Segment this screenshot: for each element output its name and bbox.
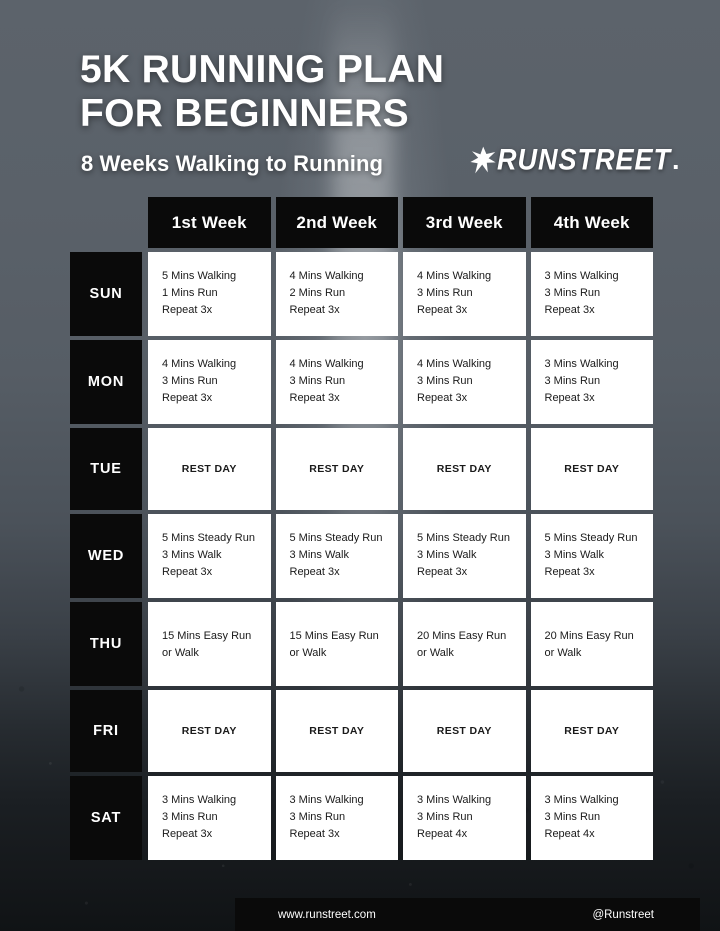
workout-line: 15 Mins Easy Run	[162, 628, 271, 645]
workout-line: Repeat 3x	[162, 826, 271, 843]
workout-cell-mon-week4: 3 Mins Walking 3 Mins Run Repeat 3x	[531, 340, 654, 424]
rest-cell-fri-week1: REST DAY	[148, 690, 271, 772]
table-row: MON 4 Mins Walking 3 Mins Run Repeat 3x …	[70, 340, 653, 424]
workout-line: 1 Mins Run	[162, 285, 271, 302]
workout-line: Repeat 3x	[162, 564, 271, 581]
poster: 5K RUNNING PLAN FOR BEGINNERS 8 Weeks Wa…	[0, 0, 720, 931]
rest-cell-fri-week2: REST DAY	[276, 690, 399, 772]
table-row: THU 15 Mins Easy Run or Walk 15 Mins Eas…	[70, 602, 653, 686]
workout-cell-thu-week3: 20 Mins Easy Run or Walk	[403, 602, 526, 686]
table-corner-cell	[70, 197, 142, 248]
workout-line: Repeat 4x	[417, 826, 526, 843]
workout-cell-mon-week3: 4 Mins Walking 3 Mins Run Repeat 3x	[403, 340, 526, 424]
workout-line: 5 Mins Walking	[162, 268, 271, 285]
workout-line: 5 Mins Steady Run	[417, 530, 526, 547]
workout-line: 3 Mins Walk	[162, 547, 271, 564]
workout-cell-sat-week3: 3 Mins Walking 3 Mins Run Repeat 4x	[403, 776, 526, 860]
workout-line: 3 Mins Run	[162, 809, 271, 826]
workout-line: 5 Mins Steady Run	[162, 530, 271, 547]
day-label-thu: THU	[70, 602, 142, 686]
workout-line: 3 Mins Walking	[545, 268, 654, 285]
logo-trademark: .	[672, 145, 680, 176]
day-label-tue: TUE	[70, 428, 142, 510]
workout-line: 3 Mins Walk	[290, 547, 399, 564]
workout-line: Repeat 3x	[417, 564, 526, 581]
workout-line: 3 Mins Walk	[545, 547, 654, 564]
workout-line: Repeat 3x	[417, 302, 526, 319]
workout-cell-mon-week1: 4 Mins Walking 3 Mins Run Repeat 3x	[148, 340, 271, 424]
day-label-fri: FRI	[70, 690, 142, 772]
rest-cell-fri-week3: REST DAY	[403, 690, 526, 772]
workout-line: 3 Mins Run	[417, 285, 526, 302]
workout-line: or Walk	[290, 645, 399, 662]
workout-line: 3 Mins Run	[290, 809, 399, 826]
page-title: 5K RUNNING PLAN FOR BEGINNERS	[80, 48, 640, 136]
rest-cell-tue-week4: REST DAY	[531, 428, 654, 510]
workout-line: Repeat 3x	[290, 564, 399, 581]
workout-line: 3 Mins Walking	[417, 792, 526, 809]
workout-cell-sat-week4: 3 Mins Walking 3 Mins Run Repeat 4x	[531, 776, 654, 860]
workout-cell-sun-week1: 5 Mins Walking 1 Mins Run Repeat 3x	[148, 252, 271, 336]
workout-line: 3 Mins Run	[417, 809, 526, 826]
workout-cell-thu-week2: 15 Mins Easy Run or Walk	[276, 602, 399, 686]
runstreet-logo: RUNSTREET .	[470, 143, 690, 177]
workout-cell-sun-week4: 3 Mins Walking 3 Mins Run Repeat 3x	[531, 252, 654, 336]
workout-line: 2 Mins Run	[290, 285, 399, 302]
workout-cell-sat-week2: 3 Mins Walking 3 Mins Run Repeat 3x	[276, 776, 399, 860]
table-row: SAT 3 Mins Walking 3 Mins Run Repeat 3x …	[70, 776, 653, 860]
workout-line: or Walk	[162, 645, 271, 662]
workout-line: Repeat 3x	[290, 826, 399, 843]
workout-line: 3 Mins Walking	[545, 356, 654, 373]
column-header-week-1: 1st Week	[148, 197, 271, 248]
workout-line: Repeat 4x	[545, 826, 654, 843]
workout-line: 3 Mins Walking	[162, 792, 271, 809]
column-header-week-3: 3rd Week	[403, 197, 526, 248]
workout-line: Repeat 3x	[545, 302, 654, 319]
workout-line: 3 Mins Run	[545, 285, 654, 302]
workout-line: 15 Mins Easy Run	[290, 628, 399, 645]
workout-line: 3 Mins Walking	[290, 792, 399, 809]
workout-line: 5 Mins Steady Run	[290, 530, 399, 547]
workout-line: 20 Mins Easy Run	[545, 628, 654, 645]
table-row: TUE REST DAY REST DAY REST DAY REST DAY	[70, 428, 653, 510]
workout-line: Repeat 3x	[290, 390, 399, 407]
footer-social-handle[interactable]: @Runstreet	[592, 909, 654, 921]
workout-line: 3 Mins Run	[417, 373, 526, 390]
workout-line: 5 Mins Steady Run	[545, 530, 654, 547]
day-label-sun: SUN	[70, 252, 142, 336]
workout-line: or Walk	[545, 645, 654, 662]
workout-line: 4 Mins Walking	[417, 356, 526, 373]
rest-cell-tue-week1: REST DAY	[148, 428, 271, 510]
workout-cell-wed-week3: 5 Mins Steady Run 3 Mins Walk Repeat 3x	[403, 514, 526, 598]
runstreet-star-icon	[470, 146, 496, 174]
workout-cell-wed-week2: 5 Mins Steady Run 3 Mins Walk Repeat 3x	[276, 514, 399, 598]
workout-line: or Walk	[417, 645, 526, 662]
day-label-mon: MON	[70, 340, 142, 424]
workout-cell-thu-week4: 20 Mins Easy Run or Walk	[531, 602, 654, 686]
workout-line: 4 Mins Walking	[290, 268, 399, 285]
workout-line: Repeat 3x	[162, 390, 271, 407]
workout-line: 4 Mins Walking	[417, 268, 526, 285]
table-row: SUN 5 Mins Walking 1 Mins Run Repeat 3x …	[70, 252, 653, 336]
workout-line: 3 Mins Run	[290, 373, 399, 390]
rest-cell-tue-week2: REST DAY	[276, 428, 399, 510]
workout-line: Repeat 3x	[162, 302, 271, 319]
workout-line: 3 Mins Walking	[545, 792, 654, 809]
workout-cell-wed-week4: 5 Mins Steady Run 3 Mins Walk Repeat 3x	[531, 514, 654, 598]
workout-cell-mon-week2: 4 Mins Walking 3 Mins Run Repeat 3x	[276, 340, 399, 424]
workout-cell-wed-week1: 5 Mins Steady Run 3 Mins Walk Repeat 3x	[148, 514, 271, 598]
workout-cell-sat-week1: 3 Mins Walking 3 Mins Run Repeat 3x	[148, 776, 271, 860]
workout-line: 20 Mins Easy Run	[417, 628, 526, 645]
workout-line: 3 Mins Run	[545, 809, 654, 826]
logo-wordmark: RUNSTREET	[497, 143, 671, 176]
footer-bar: www.runstreet.com @Runstreet	[235, 898, 700, 931]
workout-line: Repeat 3x	[545, 564, 654, 581]
day-label-sat: SAT	[70, 776, 142, 860]
workout-line: 4 Mins Walking	[290, 356, 399, 373]
workout-cell-sun-week2: 4 Mins Walking 2 Mins Run Repeat 3x	[276, 252, 399, 336]
workout-line: Repeat 3x	[290, 302, 399, 319]
training-plan-table: 1st Week 2nd Week 3rd Week 4th Week SUN …	[70, 197, 653, 860]
workout-line: 3 Mins Run	[545, 373, 654, 390]
workout-cell-thu-week1: 15 Mins Easy Run or Walk	[148, 602, 271, 686]
rest-cell-tue-week3: REST DAY	[403, 428, 526, 510]
table-row: WED 5 Mins Steady Run 3 Mins Walk Repeat…	[70, 514, 653, 598]
footer-website-url[interactable]: www.runstreet.com	[278, 909, 376, 921]
workout-line: 3 Mins Walk	[417, 547, 526, 564]
column-header-week-4: 4th Week	[531, 197, 654, 248]
workout-cell-sun-week3: 4 Mins Walking 3 Mins Run Repeat 3x	[403, 252, 526, 336]
page-subtitle: 8 Weeks Walking to Running	[81, 151, 383, 177]
rest-cell-fri-week4: REST DAY	[531, 690, 654, 772]
table-header-row: 1st Week 2nd Week 3rd Week 4th Week	[70, 197, 653, 248]
workout-line: 3 Mins Run	[162, 373, 271, 390]
table-row: FRI REST DAY REST DAY REST DAY REST DAY	[70, 690, 653, 772]
workout-line: Repeat 3x	[545, 390, 654, 407]
workout-line: Repeat 3x	[417, 390, 526, 407]
day-label-wed: WED	[70, 514, 142, 598]
column-header-week-2: 2nd Week	[276, 197, 399, 248]
workout-line: 4 Mins Walking	[162, 356, 271, 373]
